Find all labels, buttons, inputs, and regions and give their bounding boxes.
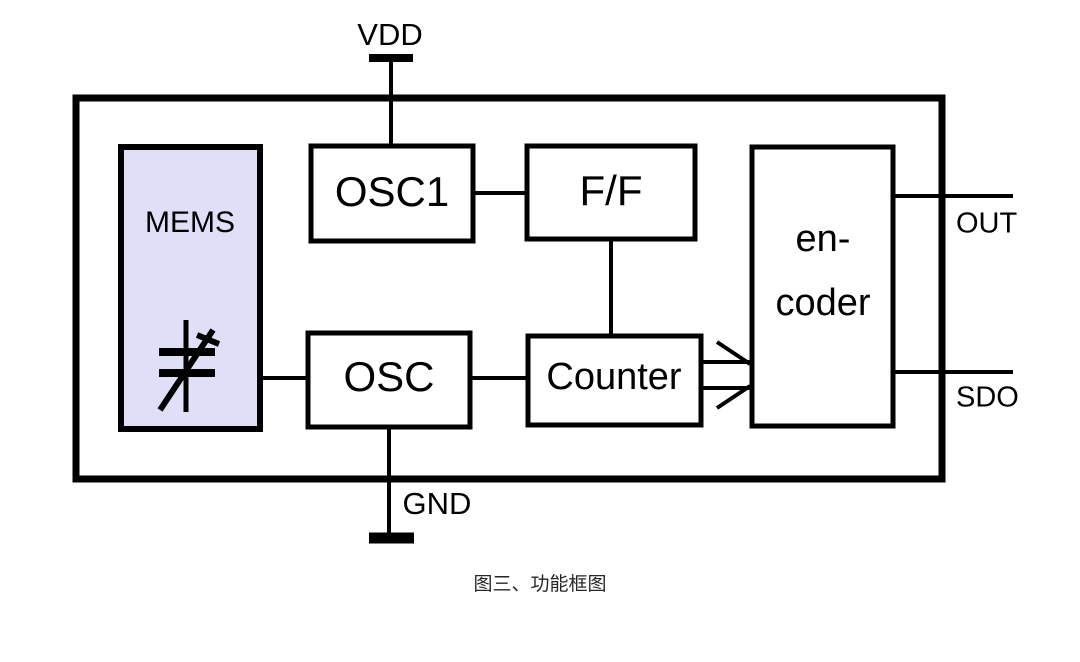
block-osc[interactable]: OSC: [308, 333, 470, 427]
mems-label: MEMS: [145, 206, 235, 239]
figure-container: VDD MEMS OSC1 F/F: [0, 0, 1080, 662]
block-counter[interactable]: Counter: [528, 336, 701, 425]
sdo-label: SDO: [956, 382, 1019, 414]
functional-block-diagram: VDD MEMS OSC1 F/F: [0, 0, 1080, 662]
osc-label: OSC: [343, 353, 434, 400]
block-mems[interactable]: MEMS: [121, 147, 260, 429]
out-label: OUT: [956, 208, 1018, 240]
figure-caption: 图三、功能框图: [473, 573, 606, 595]
encoder-label-line1: en-: [796, 218, 851, 260]
gnd-label: GND: [403, 486, 472, 521]
ff-label: F/F: [580, 167, 643, 214]
out-net: OUT: [893, 196, 1018, 240]
counter-label: Counter: [546, 356, 682, 398]
vdd-net: VDD: [357, 17, 422, 146]
sdo-net: SDO: [893, 372, 1019, 414]
block-ff[interactable]: F/F: [527, 146, 695, 239]
osc1-label: OSC1: [335, 168, 449, 215]
mems-rect[interactable]: [121, 147, 260, 429]
vdd-label: VDD: [357, 17, 422, 52]
encoder-label-line2: coder: [775, 282, 870, 324]
block-encoder[interactable]: en- coder: [752, 147, 893, 426]
block-osc1[interactable]: OSC1: [311, 146, 473, 241]
